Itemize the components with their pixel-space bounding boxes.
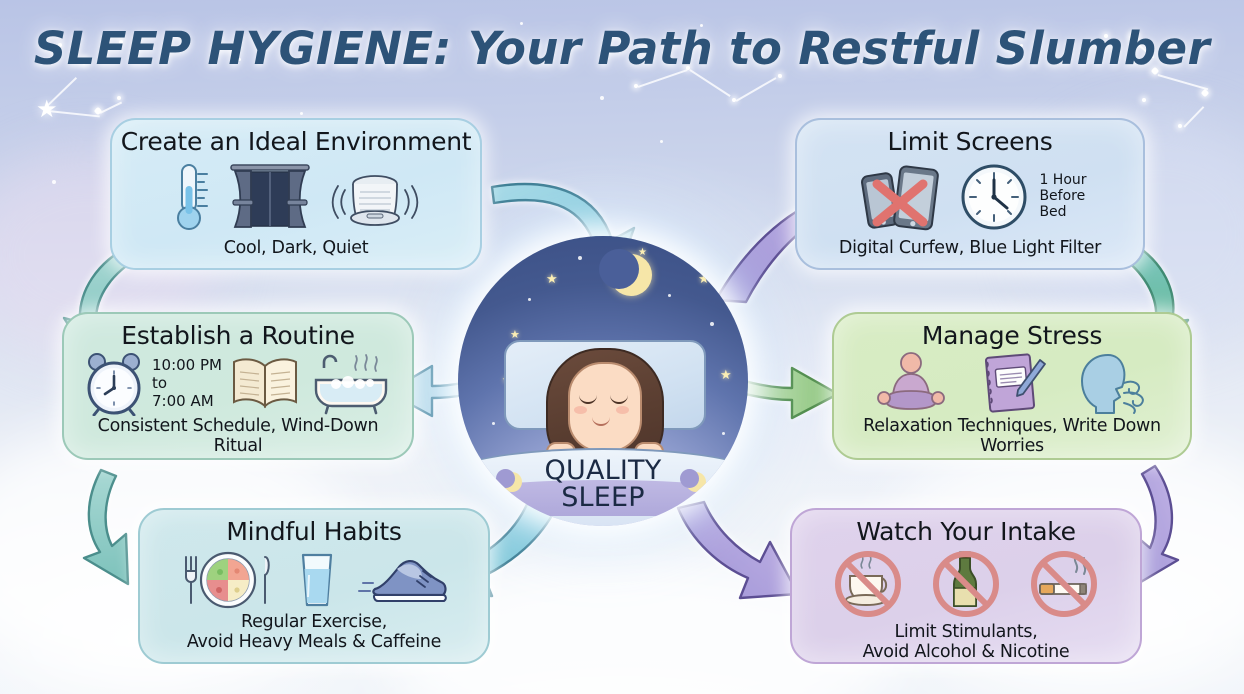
card-caption: Relaxation Techniques, Write Down Worrie… [844,416,1180,457]
card-caption: Digital Curfew, Blue Light Filter [839,238,1101,259]
cheek [574,406,587,414]
card-title: Create an Ideal Environment [121,128,472,156]
journal-pen-icon [976,350,1048,416]
star-icon: ★ [638,248,647,258]
card-watch-your-intake[interactable]: Watch Your Intake [790,508,1142,664]
star-dot [600,96,604,100]
phone-tablet-crossed-icon [853,160,949,234]
card-title: Establish a Routine [121,322,354,350]
star-icon: ★ [36,98,58,122]
water-glass-icon [293,547,341,611]
breathing-head-icon [1074,351,1152,415]
clock-icon [959,162,1029,232]
card-mindful-habits[interactable]: Mindful Habits [138,508,490,664]
infographic-canvas: ★ SLEEP HYGIENE: You [0,0,1244,694]
card-caption: Regular Exercise, Avoid Heavy Meals & Ca… [187,612,441,653]
thermometer-icon [169,160,213,234]
star-dot [578,256,582,260]
star-icon [634,84,638,88]
constellation-line [45,77,76,107]
card-caption: Limit Stimulants, Avoid Alcohol & Nicoti… [863,622,1070,663]
open-book-icon [228,352,302,414]
star-dot [722,432,725,435]
card-title: Mindful Habits [226,518,401,546]
white-noise-machine-icon [327,160,423,234]
card-manage-stress[interactable]: Manage Stress [832,312,1192,460]
card-title: Limit Screens [888,128,1053,156]
star-dot [710,322,714,326]
constellation-line [100,102,122,114]
star-icon [1178,124,1182,128]
star-dot [52,180,56,184]
routine-side-text: 10:00 PM to 7:00 AM [152,356,222,410]
card-icons [122,156,470,239]
alarm-clock-icon [82,350,146,416]
star-icon [94,107,102,115]
star-icon [1201,89,1209,97]
center-label: QUALITY SLEEP [458,457,748,512]
card-create-ideal-environment[interactable]: Create an Ideal Environment [110,118,482,270]
page-title: SLEEP HYGIENE: Your Path to Restful Slum… [0,22,1244,75]
card-establish-routine[interactable]: Establish a Routine 10:00 PM to 7:00 AM [62,312,414,460]
star-dot [528,298,531,301]
moon-icon [610,254,652,296]
star-dot [668,294,671,297]
star-dot [660,140,663,143]
star-icon [117,96,121,100]
card-title: Watch Your Intake [856,518,1075,546]
curtains-icon [227,160,313,234]
card-caption: Cool, Dark, Quiet [224,238,369,259]
bathtub-icon [308,350,394,416]
star-icon: ★ [546,272,558,285]
card-icons: 1 Hour Before Bed [807,156,1133,239]
constellation-line [1183,106,1204,127]
card-icons [150,546,478,612]
card-icons [802,546,1130,622]
balanced-plate-icon [179,547,277,611]
card-title: Manage Stress [922,322,1102,350]
star-icon [1142,98,1146,102]
running-shoe-icon [357,549,449,609]
card-caption: Consistent Schedule, Wind-Down Ritual [74,416,402,457]
card-limit-screens[interactable]: Limit Screens [795,118,1145,270]
star-dot [300,112,303,115]
constellation-line [1158,74,1208,90]
star-icon [732,98,736,102]
no-alcohol-icon [928,546,1004,622]
meditation-figure-icon [872,351,950,415]
star-icon: ★ [698,272,710,285]
card-icons [844,350,1180,416]
constellation-line [48,110,100,117]
screens-side-text: 1 Hour Before Bed [1039,173,1086,220]
constellation-line [736,77,777,101]
cheek [616,406,629,414]
no-coffee-icon [830,546,906,622]
center-quality-sleep: ★ ★ ★ ★ ★ ★ QUALITY [458,236,748,526]
arrow-routine-to-habits [84,470,128,584]
star-icon: ★ [720,368,732,381]
no-smoking-icon [1026,546,1102,622]
card-icons: 10:00 PM to 7:00 AM [74,350,402,416]
star-dot [492,422,495,425]
